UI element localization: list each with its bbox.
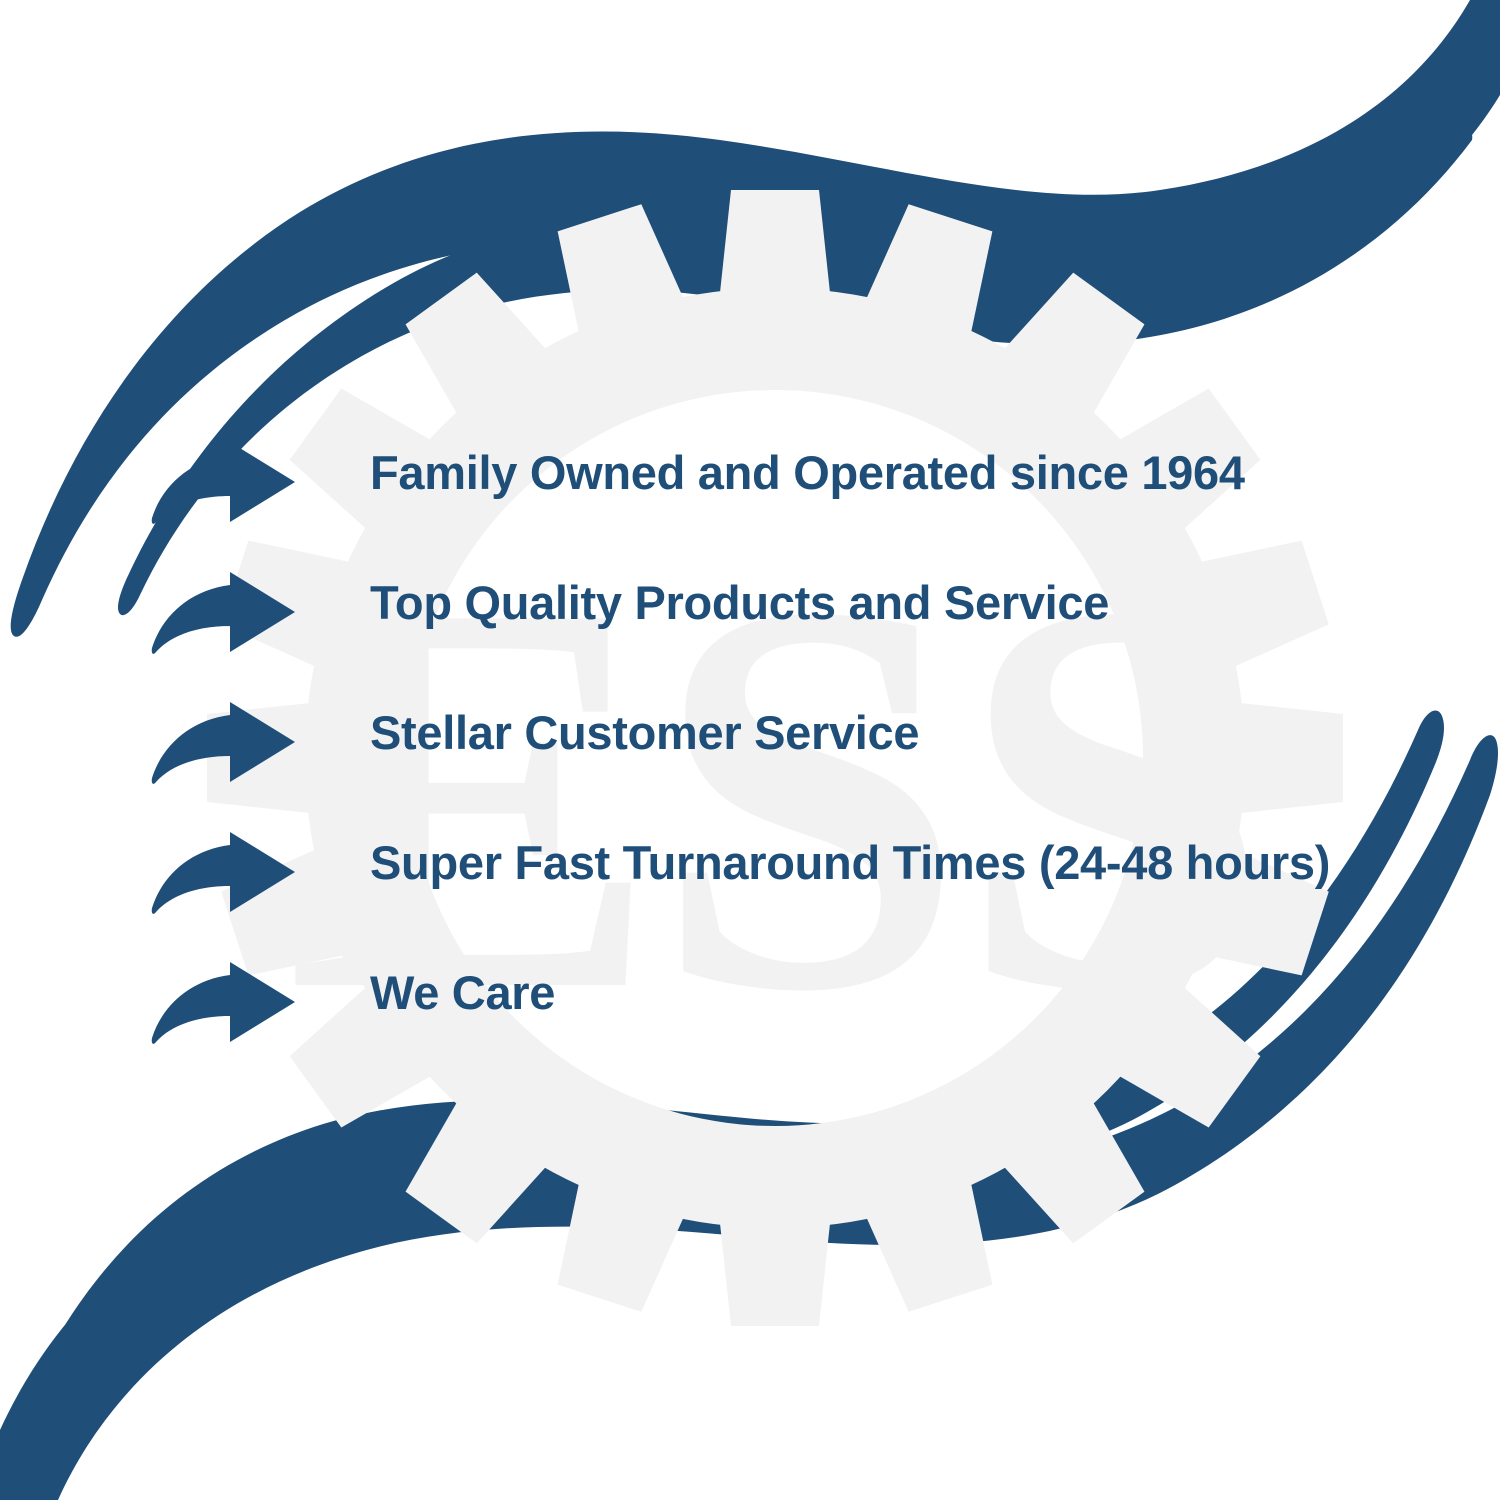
curved-arrow-right-icon (150, 832, 297, 918)
list-item: Super Fast Turnaround Times (24-48 hours… (150, 820, 1450, 950)
curved-arrow-right-icon (150, 962, 297, 1048)
list-item-label: Stellar Customer Service (300, 690, 1450, 757)
list-item-label: Top Quality Products and Service (300, 560, 1450, 627)
bullet-icon-cell (150, 820, 300, 918)
promo-graphic: ESS WHY SHOP WITH US Family Owned and Op… (0, 0, 1500, 1500)
list-item: Stellar Customer Service (150, 690, 1450, 820)
list-item: Top Quality Products and Service (150, 560, 1450, 690)
list-item-label: Family Owned and Operated since 1964 (300, 430, 1450, 497)
list-item: We Care (150, 950, 1450, 1080)
curved-arrow-right-icon (150, 702, 297, 788)
bullet-icon-cell (150, 950, 300, 1048)
curved-arrow-right-icon (150, 572, 297, 658)
list-item-label: Super Fast Turnaround Times (24-48 hours… (300, 820, 1450, 887)
bullet-icon-cell (150, 560, 300, 658)
curved-arrow-right-icon (150, 442, 297, 528)
page-title: WHY SHOP WITH US (324, 16, 1177, 113)
list-item: Family Owned and Operated since 1964 (150, 430, 1450, 560)
bullet-icon-cell (150, 430, 300, 528)
list-item-label: We Care (300, 950, 1450, 1017)
bullet-icon-cell (150, 690, 300, 788)
benefits-list: Family Owned and Operated since 1964 Top… (150, 430, 1450, 1080)
header-title-wrap: WHY SHOP WITH US (0, 16, 1500, 113)
